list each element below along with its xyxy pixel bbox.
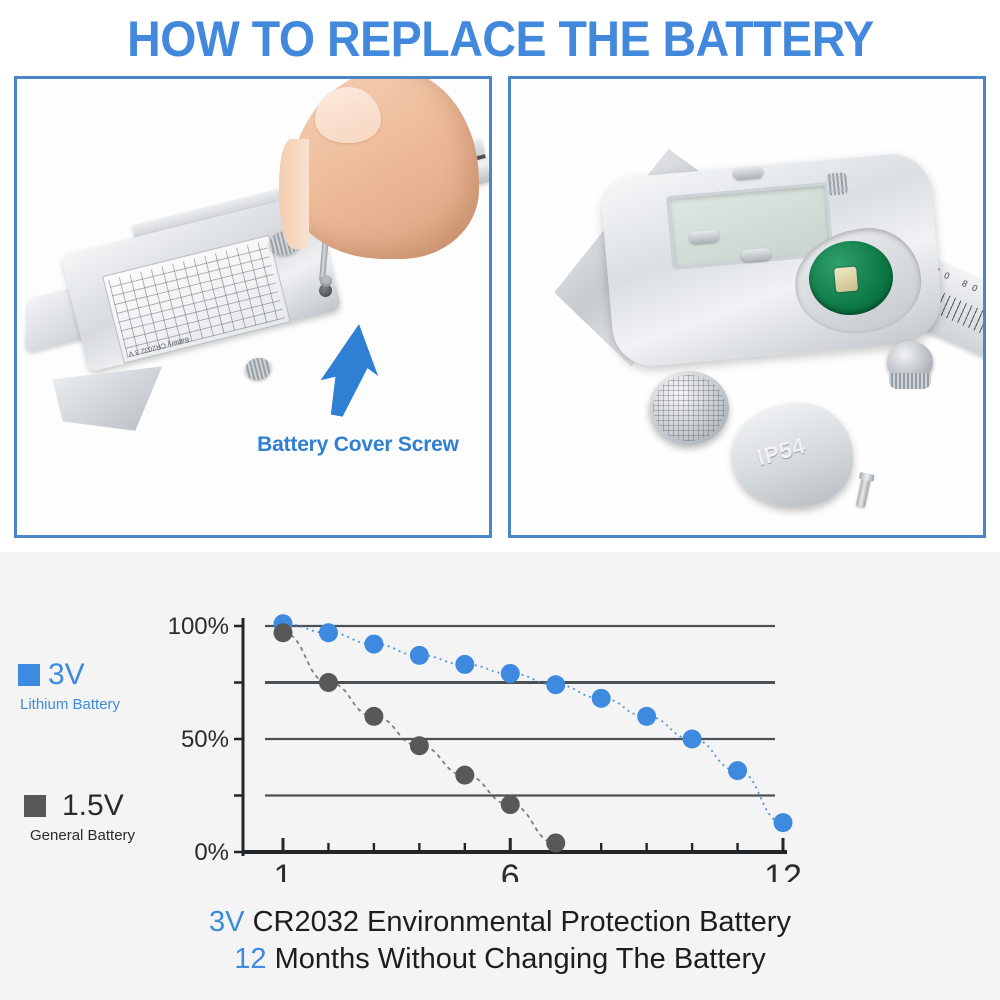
battery-cover: IP54: [733, 403, 853, 507]
chart-data-point: [274, 623, 293, 642]
page-root: HOW TO REPLACE THE BATTERY Battery CR203…: [0, 0, 1000, 1000]
page-title-text: HOW TO REPLACE THE BATTERY: [127, 10, 874, 68]
chart-y-tick-label: 0%: [194, 839, 229, 866]
screwdriver-tip: [320, 275, 332, 287]
chart-data-point: [364, 635, 383, 654]
chart-data-point: [410, 736, 429, 755]
chart-series-line: [283, 624, 783, 823]
caption-line-1: 3V CR2032 Environmental Protection Batte…: [0, 904, 1000, 941]
caliper-lock-screw: [826, 172, 848, 196]
caption-text-2: Months Without Changing The Battery: [275, 943, 766, 975]
caption-text-1: CR2032 Environmental Protection Battery: [253, 906, 791, 938]
chart-data-point: [501, 664, 520, 683]
chart-data-point: [410, 646, 429, 665]
right-photo-stage: 70 80 IP54: [511, 79, 983, 535]
chart-data-point: [501, 795, 520, 814]
chart-y-tick-label: 100%: [168, 613, 229, 640]
caption-line-2: 12 Months Without Changing The Battery: [0, 941, 1000, 978]
battery-discharge-chart: 0%50%100%1612: [0, 552, 1000, 882]
hand-finger-edge: [279, 139, 309, 249]
chart-data-point: [546, 833, 565, 852]
chart-data-point: [637, 707, 656, 726]
chart-data-point: [774, 813, 793, 832]
page-title: HOW TO REPLACE THE BATTERY: [0, 8, 1000, 70]
chart-y-tick-label: 50%: [181, 726, 229, 753]
cr2032-coin-cell: [649, 371, 729, 445]
chart-data-point: [319, 673, 338, 692]
chart-data-point: [728, 761, 747, 780]
annotation-label: Battery Cover Screw: [223, 433, 492, 457]
photo-card-unscrew-step: Battery CR2032 3 V Battery Cover Screw: [14, 76, 492, 538]
chart-data-point: [319, 623, 338, 642]
caliper-thumb-roller: [887, 341, 933, 383]
photo-gallery: Battery CR2032 3 V Battery Cover Screw: [14, 76, 986, 538]
chart-data-point: [455, 655, 474, 674]
battery-cover-text: IP54: [754, 433, 809, 472]
caption-accent-months: 12: [234, 943, 266, 975]
chart-data-point: [455, 766, 474, 785]
arrow-up-icon: [317, 321, 381, 417]
chart-data-point: [364, 707, 383, 726]
chart-data-point: [546, 675, 565, 694]
left-photo-stage: Battery CR2032 3 V Battery Cover Screw: [17, 79, 489, 535]
chart-x-tick-label: 1: [274, 858, 293, 882]
chart-x-tick-label: 6: [501, 858, 520, 882]
chart-x-tick-label: 12: [764, 858, 802, 882]
caption-accent-voltage: 3V: [209, 906, 244, 938]
chart-caption: 3V CR2032 Environmental Protection Batte…: [0, 904, 1000, 978]
chart-data-point: [683, 730, 702, 749]
photo-card-battery-parts: 70 80 IP54: [508, 76, 986, 538]
chart-data-point: [592, 689, 611, 708]
battery-life-chart-panel: 3V Lithium Battery 1.5V General Battery …: [0, 552, 1000, 1000]
